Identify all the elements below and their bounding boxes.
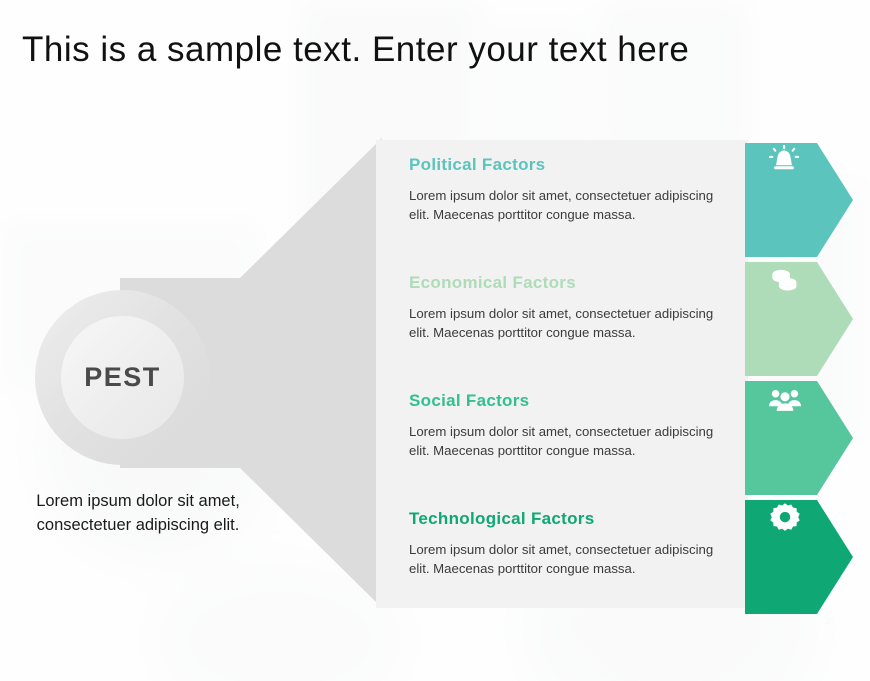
gear-icon [767, 500, 815, 614]
section-body-economical: Lorem ipsum dolor sit amet, consectetuer… [409, 304, 719, 342]
pest-label: PEST [84, 362, 161, 393]
content-panel: Political Factors Lorem ipsum dolor sit … [376, 140, 748, 608]
pest-hub-circle: PEST [35, 290, 210, 465]
section-political: Political Factors Lorem ipsum dolor sit … [409, 155, 719, 224]
section-title-political: Political Factors [409, 155, 719, 175]
hub-caption: Lorem ipsum dolor sit amet, consectetuer… [18, 490, 258, 538]
chevron-political[interactable] [745, 143, 853, 257]
section-title-technological: Technological Factors [409, 509, 719, 529]
section-body-social: Lorem ipsum dolor sit amet, consectetuer… [409, 422, 719, 460]
chevron-social[interactable] [745, 381, 853, 495]
chevron-technological[interactable] [745, 500, 853, 614]
page-title: This is a sample text. Enter your text h… [22, 30, 842, 70]
section-title-economical: Economical Factors [409, 273, 719, 293]
chevron-economical[interactable] [745, 262, 853, 376]
section-title-social: Social Factors [409, 391, 719, 411]
pest-analysis-slide: This is a sample text. Enter your text h… [0, 0, 870, 681]
section-economical: Economical Factors Lorem ipsum dolor sit… [409, 273, 719, 342]
coins-icon [767, 262, 815, 376]
section-body-technological: Lorem ipsum dolor sit amet, consectetuer… [409, 540, 719, 578]
circle-inner-disc: PEST [61, 316, 184, 439]
section-social: Social Factors Lorem ipsum dolor sit ame… [409, 391, 719, 460]
section-technological: Technological Factors Lorem ipsum dolor … [409, 509, 719, 578]
siren-icon [767, 143, 815, 257]
people-group-icon [767, 381, 815, 495]
section-body-political: Lorem ipsum dolor sit amet, consectetuer… [409, 186, 719, 224]
